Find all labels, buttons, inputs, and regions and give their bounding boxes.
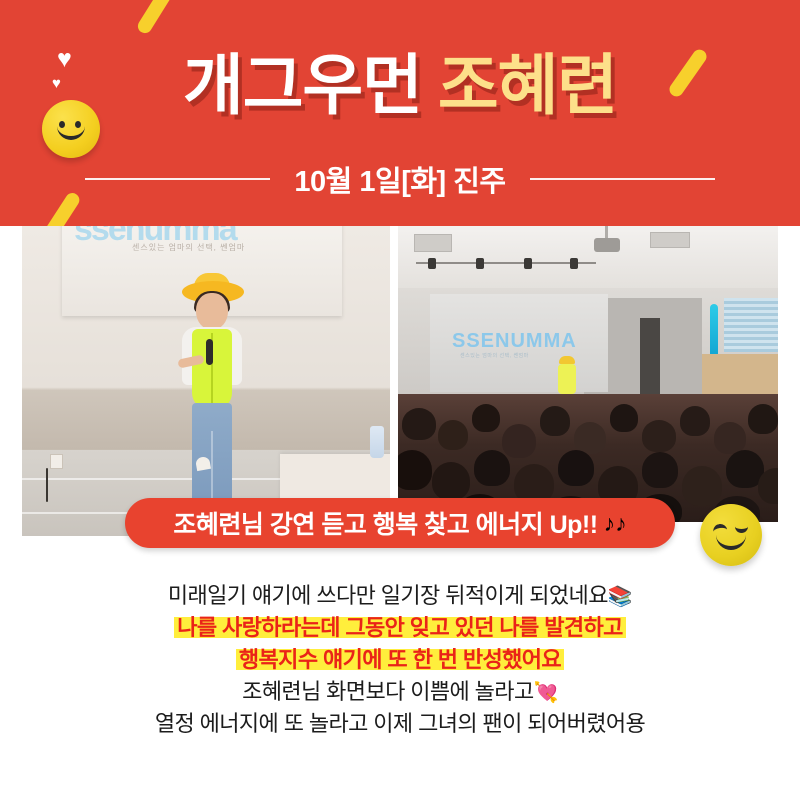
jeans-seam [211,431,213,507]
poster-header: ♥ ♥ 개그우먼조혜련 10월 1일[화] 진주 [0,0,800,226]
divider-right [530,178,715,180]
spotlight-icon [570,258,578,269]
testimonial-line-text: 열정 에너지에 또 놀라고 이제 그녀의 팬이 되어버렸어용 [155,711,645,736]
audience-head [398,450,432,490]
spotlight-icon [476,258,484,269]
speaker-figure [172,281,252,511]
spotlight-icon [524,258,532,269]
speaker-on-stage-small [556,356,578,396]
promo-poster: ♥ ♥ 개그우먼조혜련 10월 1일[화] 진주 ssenumma 센스있는 엄… [0,0,800,800]
photo-audience: SSENUMMA 센스있는 엄마의 선택, 쎈엄마 [398,226,778,522]
audience-head [402,408,436,440]
projection-screen: SSENUMMA 센스있는 엄마의 선택, 쎈엄마 [430,294,608,392]
heart-arrow-icon: 💘 [534,682,558,704]
subtitle-row: 10월 1일[화] 진주 [0,158,800,200]
ceiling-vent [414,234,452,252]
testimonial-text: 미래일기 얘기에 쓰다만 일기장 뒤적이게 되었네요📚 나를 사랑하라는데 그동… [0,580,800,740]
highlight-banner: 조혜련님 강연 듣고 행복 찾고 에너지 Up!! ♪♪ [125,498,675,548]
audience-head [748,404,778,434]
testimonial-line-text: 나를 사랑하라는데 그동안 잊고 있던 나를 발견하고 [174,615,626,640]
power-cord [46,468,48,502]
smiley-open-eye [735,524,748,533]
speaker-hat [559,356,575,364]
screen-tagline-text: 센스있는 엄마의 선택, 쎈엄마 [132,242,245,253]
audience-head [502,424,536,458]
audience-head [642,420,676,452]
screen-logo-text: SSENUMMA [452,330,577,353]
audience-head [558,450,594,486]
ceiling [398,226,778,288]
door [640,318,660,394]
photo-speaker-on-stage: ssenumma 센스있는 엄마의 선택, 쎈엄마 [22,226,390,536]
smiley-mouth [57,125,85,140]
window-blinds [724,298,778,352]
wall-outlet [50,454,63,469]
speaker-body [558,364,576,394]
page-title: 개그우먼조혜련 [0,52,800,118]
audience-head [472,404,500,432]
screen-tagline-text: 센스있는 엄마의 선택, 쎈엄마 [460,352,529,359]
projector-icon [594,238,620,252]
testimonial-line-text: 조혜련님 화면보다 이쁨에 놀라고 [242,679,534,704]
testimonial-line: 행복지수 얘기에 또 한 번 반성했어요 [0,644,800,676]
audience-head [474,450,510,486]
audience-head [680,406,710,436]
light-rail [416,262,596,264]
water-bottle [370,426,384,458]
music-note-icon: ♪♪ [604,510,627,537]
testimonial-line: 조혜련님 화면보다 이쁨에 놀라고💘 [0,676,800,708]
testimonial-line: 미래일기 얘기에 쓰다만 일기장 뒤적이게 되었네요📚 [0,580,800,612]
audience-head [610,404,638,432]
winking-smiley-icon [700,504,762,566]
face [196,293,228,330]
audience-head [432,462,470,500]
audience-head [642,452,678,488]
photo-gallery: ssenumma 센스있는 엄마의 선택, 쎈엄마 [22,226,778,536]
books-icon: 📚 [608,586,632,608]
testimonial-line-text: 행복지수 얘기에 또 한 번 반성했어요 [236,647,564,672]
decorative-slash-icon [135,0,174,36]
podium [702,354,778,396]
audience-head [438,420,468,450]
testimonial-line: 나를 사랑하라는데 그동안 잊고 있던 나를 발견하고 [0,612,800,644]
audience-head [574,422,606,454]
audience-head [682,466,722,506]
testimonial-line-text: 미래일기 얘기에 쓰다만 일기장 뒤적이게 되었네요 [168,583,608,608]
microphone-icon [206,339,213,365]
title-primary: 개그우먼 [183,48,422,122]
title-highlight: 조혜련 [438,48,617,122]
event-date-location: 10월 1일[화] 진주 [294,158,505,200]
audience-head [714,422,746,454]
testimonial-line: 열정 에너지에 또 놀라고 이제 그녀의 팬이 되어버렸어용 [0,708,800,740]
spotlight-icon [428,258,436,269]
banner-text: 조혜련님 강연 듣고 행복 찾고 에너지 Up!! [173,505,597,541]
divider-left [85,178,270,180]
smiley-mouth [716,534,746,550]
audience-head [540,406,570,436]
ceiling-vent [650,232,690,248]
